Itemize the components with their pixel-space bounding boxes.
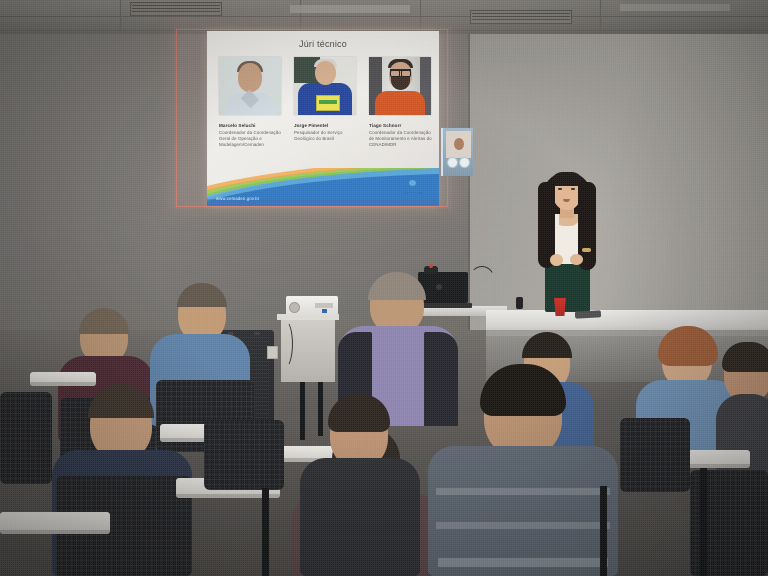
member-photo-3 xyxy=(369,57,431,115)
member-name-1: Marcelo Seluchi xyxy=(219,123,283,129)
projector-lens-icon xyxy=(289,302,300,313)
presentation-clicker[interactable] xyxy=(516,297,523,309)
classroom-presentation-photo: Júri técnico Marcelo Seluchi Coordenador… xyxy=(0,0,768,576)
microphone xyxy=(424,266,438,274)
chair xyxy=(620,418,690,492)
member-role-3: Coordenador da Coordenação de Monitorame… xyxy=(369,130,433,149)
presenter xyxy=(520,168,612,314)
video-call-participant xyxy=(446,131,471,158)
member-caption-2: Jorge Pimentel Pesquisador do Serviço Ge… xyxy=(294,123,358,142)
attendee-dark-hair-front-right xyxy=(300,400,420,576)
chair xyxy=(204,420,284,490)
ceiling-light-panel-2 xyxy=(620,4,730,11)
member-role-2: Pesquisador do Serviço Geológico do Bras… xyxy=(294,130,358,142)
slide-photo-row xyxy=(215,57,431,117)
attendee-striped-polo-center xyxy=(428,372,618,576)
member-photo-1 xyxy=(219,57,281,115)
member-role-1: Coordenador da Coordenação Geral de Oper… xyxy=(219,130,283,149)
tablet-desk xyxy=(30,372,96,386)
cemaden-swirl-icon xyxy=(404,176,422,190)
video-call-thumbnail[interactable] xyxy=(441,128,473,176)
member-caption-3: Tiago Schnorr Coordenador da Coordenação… xyxy=(369,123,433,149)
member-caption-1: Marcelo Seluchi Coordenador da Coordenaç… xyxy=(219,123,283,149)
presentation-slide: Júri técnico Marcelo Seluchi Coordenador… xyxy=(207,31,439,206)
microphone-led-icon xyxy=(429,264,433,268)
ceiling-light-panel xyxy=(290,5,410,13)
camera-button-icon[interactable] xyxy=(459,157,470,168)
slide-footer-url: www.cemaden.gov.br xyxy=(216,196,259,201)
member-photo-2 xyxy=(294,57,356,115)
member-name-3: Tiago Schnorr xyxy=(369,123,433,129)
cemaden-logo: Cemaden xyxy=(393,176,433,202)
ceiling-vent-left xyxy=(130,2,222,16)
ceiling-vent-right xyxy=(470,10,572,24)
slide-title: Júri técnico xyxy=(207,39,439,49)
cable-2 xyxy=(277,320,293,368)
presentation-remote[interactable] xyxy=(575,310,601,318)
member-name-2: Jorge Pimentel xyxy=(294,123,358,129)
mute-button-icon[interactable] xyxy=(447,157,458,168)
presenter-watch xyxy=(582,248,591,252)
projector xyxy=(286,296,338,318)
tablet-desk xyxy=(0,512,110,534)
wall-outlet xyxy=(267,346,278,359)
